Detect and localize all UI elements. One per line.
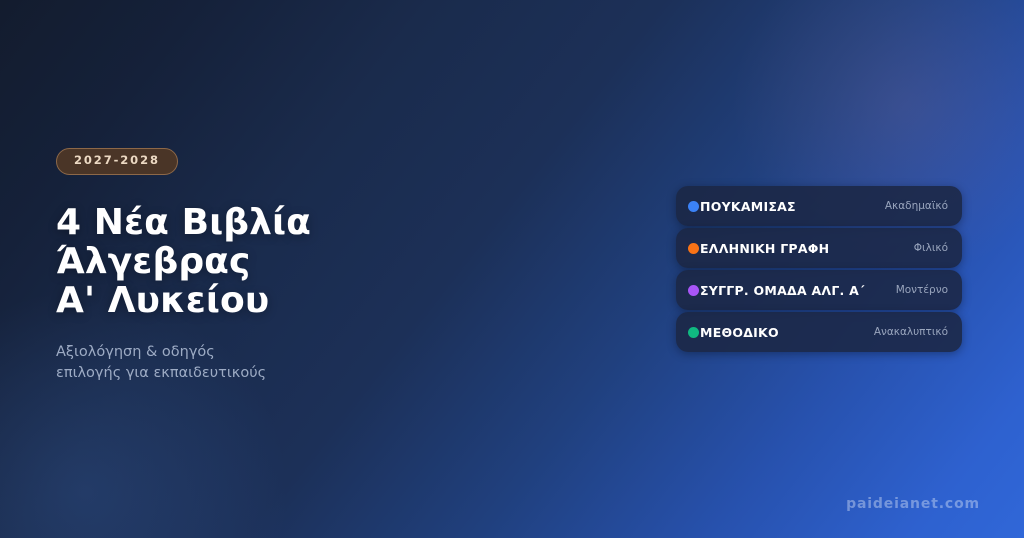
site-watermark: paideianet.com — [846, 496, 980, 512]
book-tag: Ανακαλυπτικό — [864, 326, 948, 338]
purple-dot-icon — [688, 285, 699, 296]
book-tag: Μοντέρνο — [886, 284, 948, 296]
book-tag: Φιλικό — [904, 242, 948, 254]
book-name: ΣΥΓΓΡ. ΟΜΑΔΑ ΑΛΓ. Α΄ — [700, 283, 865, 298]
green-dot-icon — [688, 327, 699, 338]
list-item[interactable]: ΣΥΓΓΡ. ΟΜΑΔΑ ΑΛΓ. Α΄ Μοντέρνο — [676, 270, 962, 310]
page-title: 4 Νέα Βιβλία Άλγεβρας Α' Λυκείου — [56, 203, 476, 320]
list-item[interactable]: ΕΛΛΗΝΙΚΗ ΓΡΑΦΗ Φιλικό — [676, 228, 962, 268]
page-title-line-2: Άλγεβρας — [56, 242, 476, 281]
page-title-line-1: 4 Νέα Βιβλία — [56, 203, 476, 242]
book-name: ΜΕΘΟΔΙΚΟ — [700, 325, 779, 340]
book-name: ΠΟΥΚΑΜΙΣΑΣ — [700, 199, 796, 214]
school-year-badge: 2027-2028 — [56, 148, 178, 175]
promo-banner: 2027-2028 4 Νέα Βιβλία Άλγεβρας Α' Λυκεί… — [0, 0, 1024, 538]
page-title-line-3: Α' Λυκείου — [56, 281, 476, 320]
page-subtitle-line-2: επιλογής για εκπαιδευτικούς — [56, 363, 476, 384]
list-item[interactable]: ΜΕΘΟΔΙΚΟ Ανακαλυπτικό — [676, 312, 962, 352]
list-item[interactable]: ΠΟΥΚΑΜΙΣΑΣ Ακαδημαϊκό — [676, 186, 962, 226]
book-list: ΠΟΥΚΑΜΙΣΑΣ Ακαδημαϊκό ΕΛΛΗΝΙΚΗ ΓΡΑΦΗ Φιλ… — [676, 186, 962, 352]
blue-dot-icon — [688, 201, 699, 212]
page-subtitle: Αξιολόγηση & οδηγός επιλογής για εκπαιδε… — [56, 342, 476, 384]
book-name: ΕΛΛΗΝΙΚΗ ΓΡΑΦΗ — [700, 241, 829, 256]
page-subtitle-line-1: Αξιολόγηση & οδηγός — [56, 342, 476, 363]
book-tag: Ακαδημαϊκό — [875, 200, 948, 212]
orange-dot-icon — [688, 243, 699, 254]
hero-text-column: 2027-2028 4 Νέα Βιβλία Άλγεβρας Α' Λυκεί… — [56, 148, 476, 384]
